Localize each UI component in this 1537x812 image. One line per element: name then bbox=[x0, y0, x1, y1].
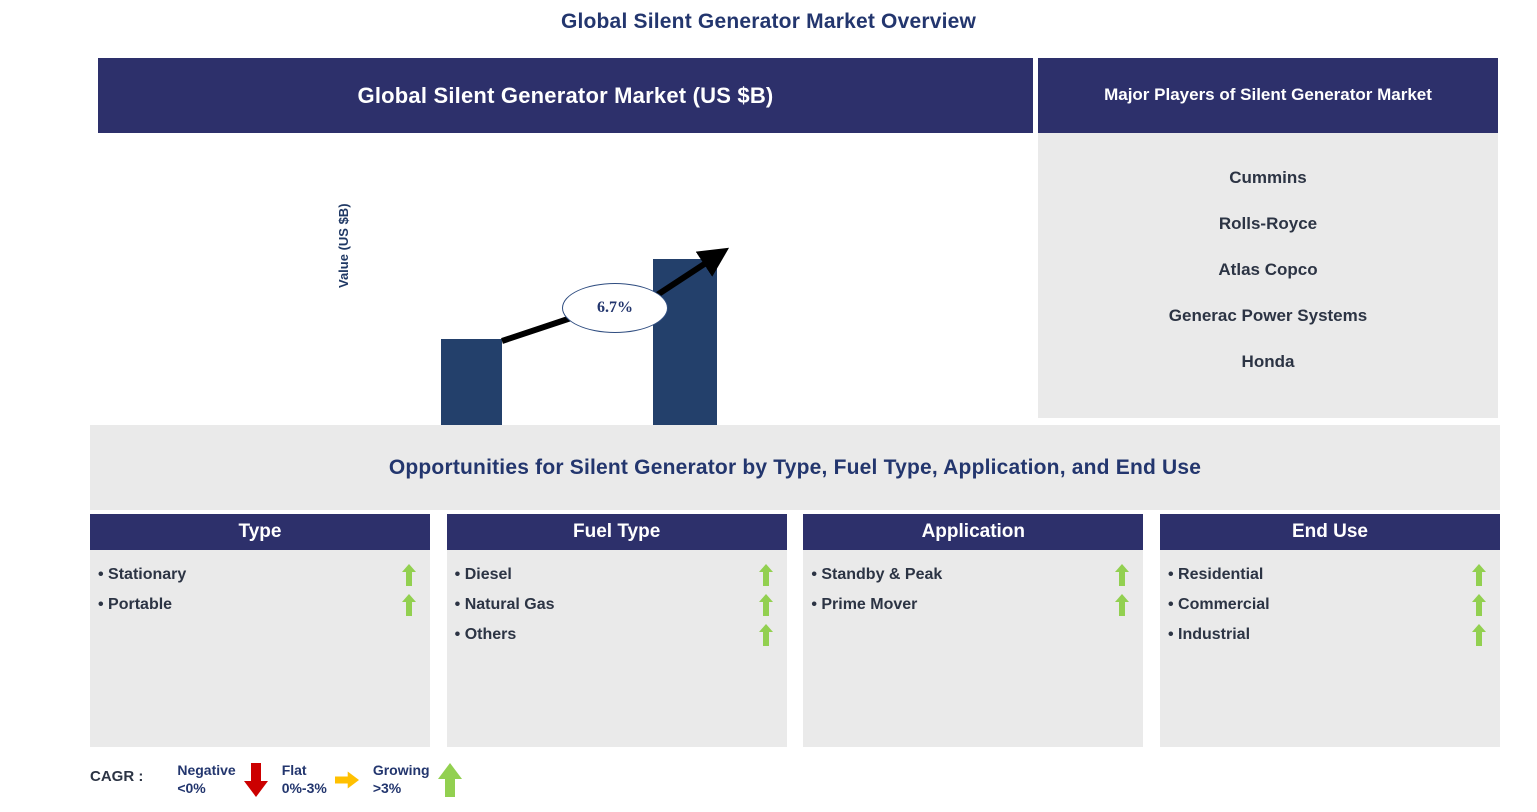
page-title: Global Silent Generator Market Overview bbox=[0, 10, 1537, 34]
opportunities-banner: Opportunities for Silent Generator by Ty… bbox=[90, 425, 1500, 510]
arrow-up-icon bbox=[1472, 594, 1486, 616]
segment-column-end-use: End Use • Residential • Commercial • Ind… bbox=[1160, 514, 1500, 747]
arrow-up-icon bbox=[402, 594, 416, 616]
segment-header-fuel-type: Fuel Type bbox=[447, 514, 787, 550]
major-players-list: Cummins Rolls-Royce Atlas Copco Generac … bbox=[1038, 133, 1498, 385]
list-item: Rolls-Royce bbox=[1038, 201, 1498, 247]
top-row: Global Silent Generator Market (US $B) V… bbox=[98, 58, 1498, 418]
cagr-bubble-label: 6.7% bbox=[597, 299, 633, 317]
cagr-legend-growing-label: Growing>3% bbox=[373, 762, 430, 797]
segment-item-label: • Industrial bbox=[1168, 626, 1250, 644]
list-item: • Standby & Peak bbox=[811, 560, 1129, 590]
major-players-card: Major Players of Silent Generator Market… bbox=[1038, 58, 1498, 418]
cagr-legend-negative-name: Negative bbox=[177, 762, 235, 778]
major-players-header-label: Major Players of Silent Generator Market bbox=[1104, 84, 1432, 107]
chart-card-header-label: Global Silent Generator Market (US $B) bbox=[358, 83, 774, 109]
chart-card-header: Global Silent Generator Market (US $B) bbox=[98, 58, 1033, 133]
segment-header-label: Type bbox=[239, 521, 282, 543]
list-item: • Industrial bbox=[1168, 620, 1486, 650]
segment-item-label: • Diesel bbox=[455, 566, 512, 584]
cagr-legend: CAGR : Negative<0% Flat0%-3% Growing>3% bbox=[90, 762, 476, 808]
major-players-header: Major Players of Silent Generator Market bbox=[1038, 58, 1498, 133]
segment-items-application: • Standby & Peak • Prime Mover bbox=[803, 550, 1143, 747]
list-item: • Commercial bbox=[1168, 590, 1486, 620]
arrow-up-icon bbox=[1472, 624, 1486, 646]
opportunities-banner-label: Opportunities for Silent Generator by Ty… bbox=[389, 456, 1201, 480]
segment-item-label: • Prime Mover bbox=[811, 596, 917, 614]
segment-header-application: Application bbox=[803, 514, 1143, 550]
arrow-up-icon bbox=[759, 624, 773, 646]
arrow-up-icon bbox=[759, 594, 773, 616]
segment-items-fuel-type: • Diesel • Natural Gas • Others bbox=[447, 550, 787, 747]
cagr-legend-growing-name: Growing bbox=[373, 762, 430, 778]
list-item: • Stationary bbox=[98, 560, 416, 590]
list-item: • Portable bbox=[98, 590, 416, 620]
list-item: • Natural Gas bbox=[455, 590, 773, 620]
cagr-legend-entry-growing: Growing>3% bbox=[373, 762, 462, 797]
cagr-bubble: 6.7% bbox=[562, 283, 668, 333]
segment-item-label: • Residential bbox=[1168, 566, 1263, 584]
cagr-legend-flat-label: Flat0%-3% bbox=[282, 762, 327, 797]
cagr-legend-flat-range: 0%-3% bbox=[282, 780, 327, 796]
segment-item-label: • Commercial bbox=[1168, 596, 1270, 614]
arrow-up-icon bbox=[438, 763, 462, 797]
list-item: • Diesel bbox=[455, 560, 773, 590]
segment-item-label: • Portable bbox=[98, 596, 172, 614]
arrow-up-icon bbox=[402, 564, 416, 586]
cagr-legend-negative-range: <0% bbox=[177, 780, 205, 796]
segment-header-end-use: End Use bbox=[1160, 514, 1500, 550]
segment-column-application: Application • Standby & Peak • Prime Mov… bbox=[803, 514, 1143, 747]
list-item: Generac Power Systems bbox=[1038, 293, 1498, 339]
list-item: • Residential bbox=[1168, 560, 1486, 590]
segment-column-fuel-type: Fuel Type • Diesel • Natural Gas • Other… bbox=[447, 514, 787, 747]
segment-items-type: • Stationary • Portable bbox=[90, 550, 430, 747]
list-item: • Others bbox=[455, 620, 773, 650]
chart-plot-area: Value (US $B) 2025 2031 6.7% Source : Lu… bbox=[98, 133, 1033, 418]
segment-header-label: End Use bbox=[1292, 521, 1368, 543]
list-item: Honda bbox=[1038, 339, 1498, 385]
segment-item-label: • Stationary bbox=[98, 566, 186, 584]
cagr-legend-entry-negative: Negative<0% bbox=[177, 762, 267, 797]
cagr-legend-title: CAGR : bbox=[90, 762, 143, 785]
segment-columns: Type • Stationary • Portable Fuel Type •… bbox=[90, 514, 1500, 747]
segment-header-type: Type bbox=[90, 514, 430, 550]
arrow-up-icon bbox=[1115, 564, 1129, 586]
growth-arrow-icon bbox=[98, 133, 1033, 418]
segment-item-label: • Standby & Peak bbox=[811, 566, 942, 584]
cagr-legend-negative-label: Negative<0% bbox=[177, 762, 235, 797]
list-item: • Prime Mover bbox=[811, 590, 1129, 620]
list-item: Atlas Copco bbox=[1038, 247, 1498, 293]
segment-header-label: Fuel Type bbox=[573, 521, 660, 543]
arrow-up-icon bbox=[759, 564, 773, 586]
cagr-legend-growing-range: >3% bbox=[373, 780, 401, 796]
arrow-down-icon bbox=[244, 763, 268, 797]
arrow-up-icon bbox=[1472, 564, 1486, 586]
arrow-up-icon bbox=[1115, 594, 1129, 616]
segment-item-label: • Natural Gas bbox=[455, 596, 555, 614]
market-chart-card: Global Silent Generator Market (US $B) V… bbox=[98, 58, 1033, 418]
list-item: Cummins bbox=[1038, 155, 1498, 201]
segment-header-label: Application bbox=[922, 521, 1025, 543]
segment-item-label: • Others bbox=[455, 626, 517, 644]
segment-items-end-use: • Residential • Commercial • Industrial bbox=[1160, 550, 1500, 747]
arrow-right-icon bbox=[335, 763, 359, 797]
cagr-legend-flat-name: Flat bbox=[282, 762, 307, 778]
segment-column-type: Type • Stationary • Portable bbox=[90, 514, 430, 747]
cagr-legend-entry-flat: Flat0%-3% bbox=[282, 762, 359, 797]
chart-y-axis-label: Value (US $B) bbox=[336, 203, 351, 288]
